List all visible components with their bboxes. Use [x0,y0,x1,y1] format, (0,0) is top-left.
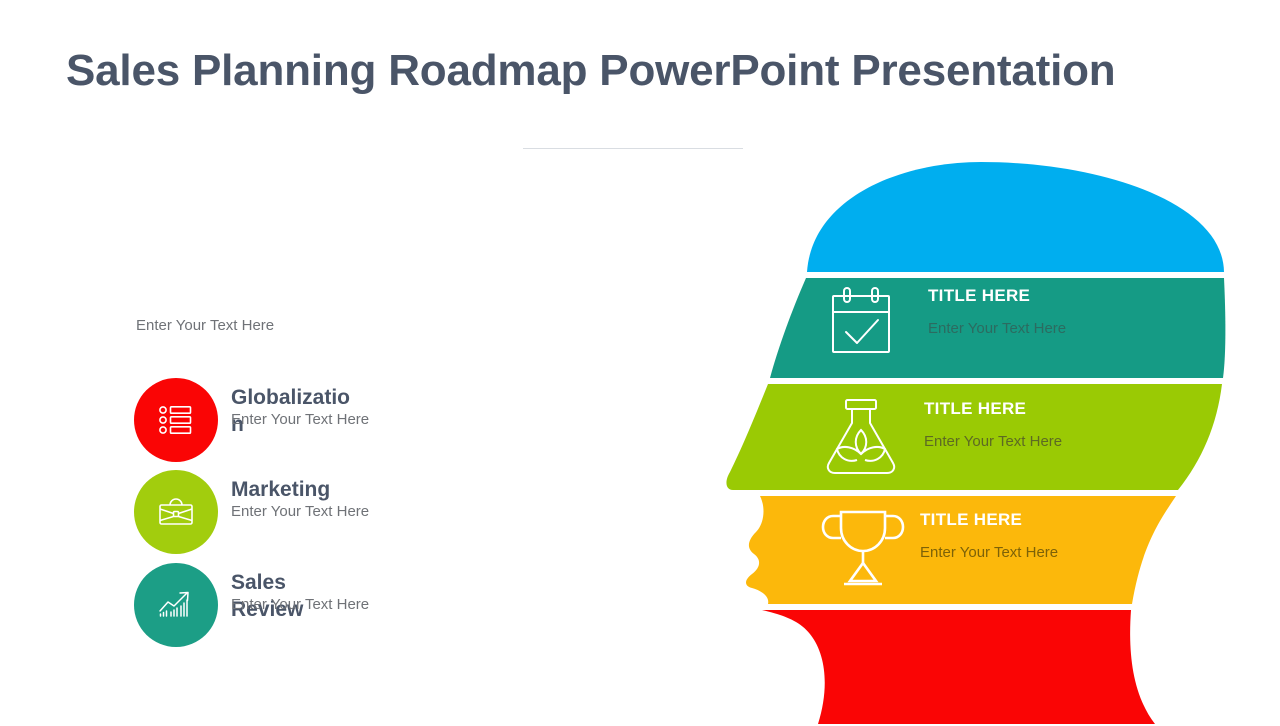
list-item-sub: Enter Your Text Here [231,503,369,520]
head-band-top [807,162,1224,272]
band-text-group: TITLE HERE Enter Your Text Here [924,399,1062,450]
list-item-sub: Enter Your Text Here [231,596,369,613]
slide: Sales Planning Roadmap PowerPoint Presen… [0,0,1280,720]
title-divider [523,148,743,149]
avatar [134,470,218,554]
band-text-group: TITLE HERE Enter Your Text Here [928,286,1066,337]
band-title: TITLE HERE [920,510,1058,530]
band-subtitle: Enter Your Text Here [920,544,1058,561]
bulleted-list-icon [155,399,197,441]
page-title: Sales Planning Roadmap PowerPoint Presen… [66,46,1226,96]
avatar [134,563,218,647]
band-subtitle: Enter Your Text Here [928,320,1066,337]
band-text-group: TITLE HERE Enter Your Text Here [920,510,1058,561]
band-title: TITLE HERE [928,286,1066,306]
list-item[interactable]: Marketing Enter Your Text Here [134,470,564,554]
head-infographic: TITLE HERE Enter Your Text Here TITLE HE… [700,160,1260,726]
briefcase-icon [154,490,198,534]
list-item-text: Sales Review Enter Your Text Here [231,569,561,623]
head-band-red [762,610,1155,724]
avatar [134,378,218,462]
band-subtitle: Enter Your Text Here [924,433,1062,450]
list-item-label: Marketing [231,476,356,503]
list-item-sub: Enter Your Text Here [231,411,369,428]
band-title: TITLE HERE [924,399,1062,419]
list-item[interactable]: Globalization Enter Your Text Here [134,378,564,462]
left-panel-caption: Enter Your Text Here [136,317,274,334]
growth-chart-icon [154,583,198,627]
list-item-text: Marketing Enter Your Text Here [231,476,561,503]
list-item-text: Globalization Enter Your Text Here [231,384,561,438]
list-item[interactable]: Sales Review Enter Your Text Here [134,563,564,647]
